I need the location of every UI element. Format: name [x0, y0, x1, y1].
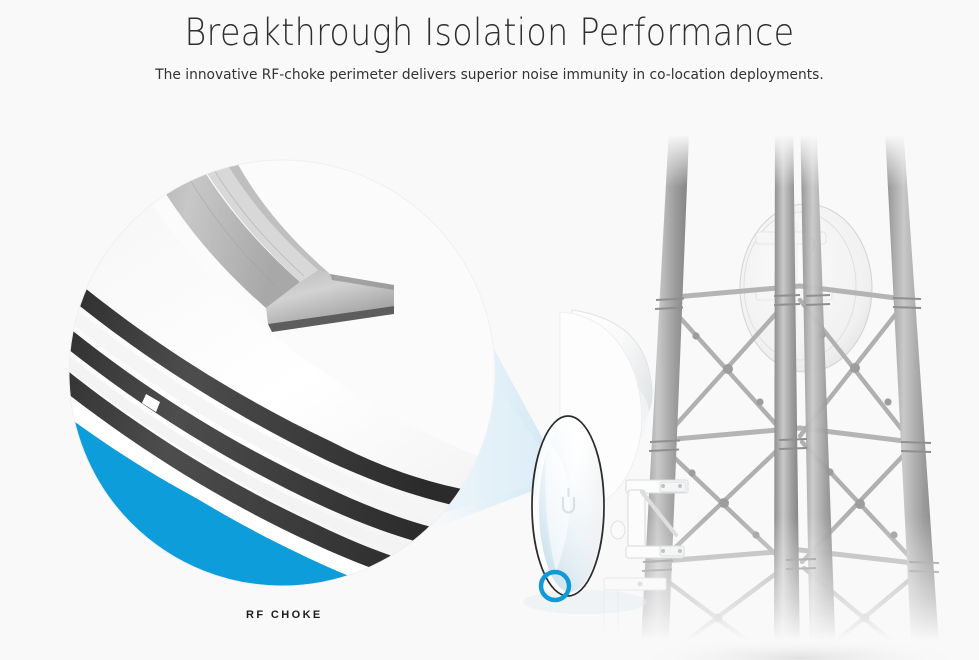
page-title: Breakthrough Isolation Performance	[49, 0, 930, 54]
illustration-stage	[0, 110, 979, 660]
page-subtitle: The innovative RF-choke perimeter delive…	[24, 54, 954, 84]
rf-choke-caption: RF CHOKE	[246, 609, 323, 621]
product-illustration	[0, 110, 979, 660]
header-section: Breakthrough Isolation Performance The i…	[0, 0, 979, 110]
page-root: Breakthrough Isolation Performance The i…	[0, 0, 979, 660]
